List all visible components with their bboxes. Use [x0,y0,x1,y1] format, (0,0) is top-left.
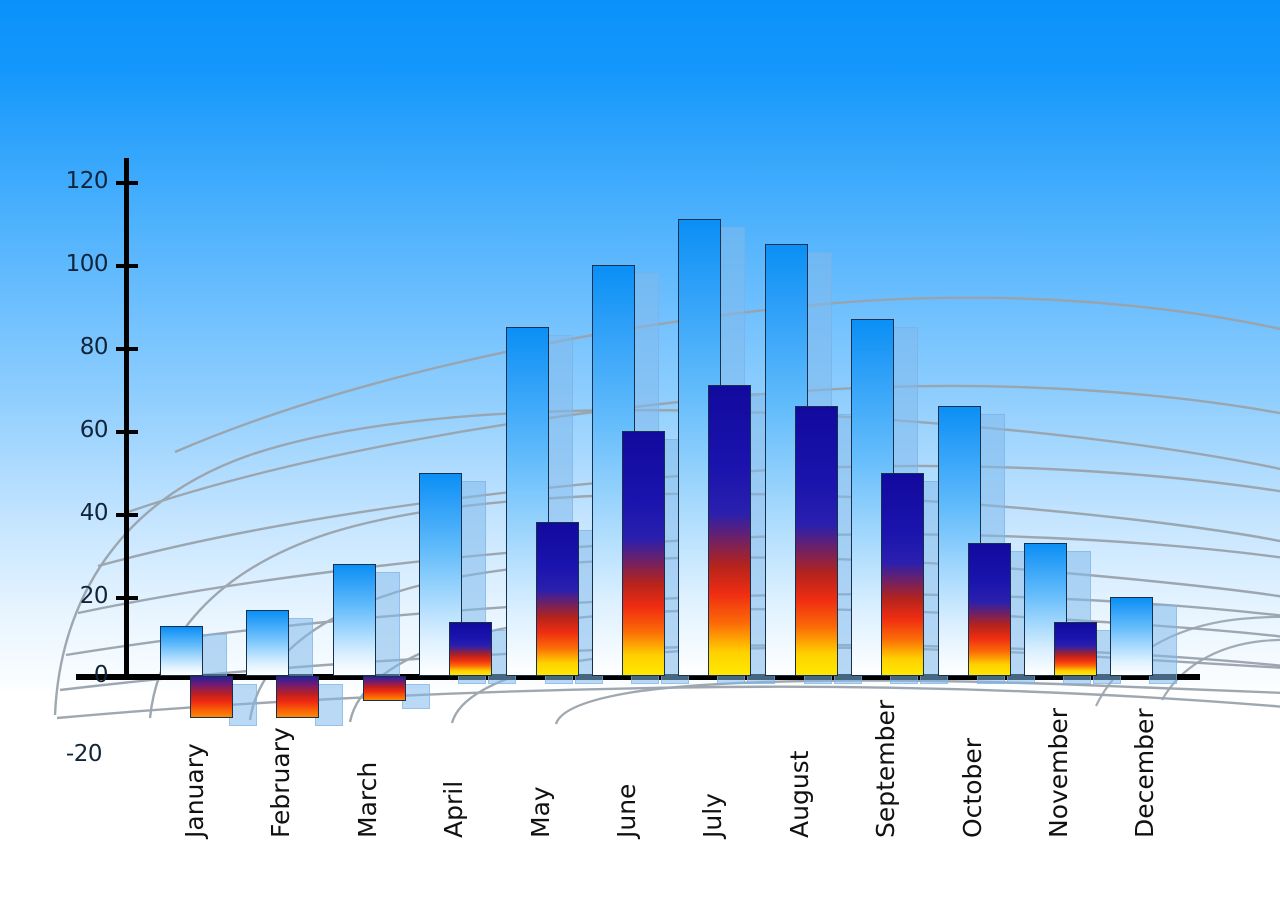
x-tick-label-december: December [1130,708,1159,838]
x-tick-label-february: February [266,727,295,838]
x-tick-label-july: July [698,793,727,838]
x-tick-label-august: August [785,751,814,839]
x-axis-labels: JanuaryFebruaryMarchAprilMayJuneJulyAugu… [0,0,1280,905]
x-tick-label-march: March [353,762,382,838]
x-tick-label-october: October [958,738,987,838]
x-tick-label-november: November [1044,708,1073,838]
plot-area: 120 100 80 60 40 20 0 -20 JanuaryFebruar… [0,0,1280,905]
x-tick-label-january: January [180,743,209,838]
x-tick-label-april: April [439,781,468,838]
x-tick-label-june: June [612,784,641,838]
chart-canvas: 120 100 80 60 40 20 0 -20 JanuaryFebruar… [0,0,1280,905]
x-tick-label-september: September [871,700,900,838]
x-tick-label-may: May [526,786,555,838]
